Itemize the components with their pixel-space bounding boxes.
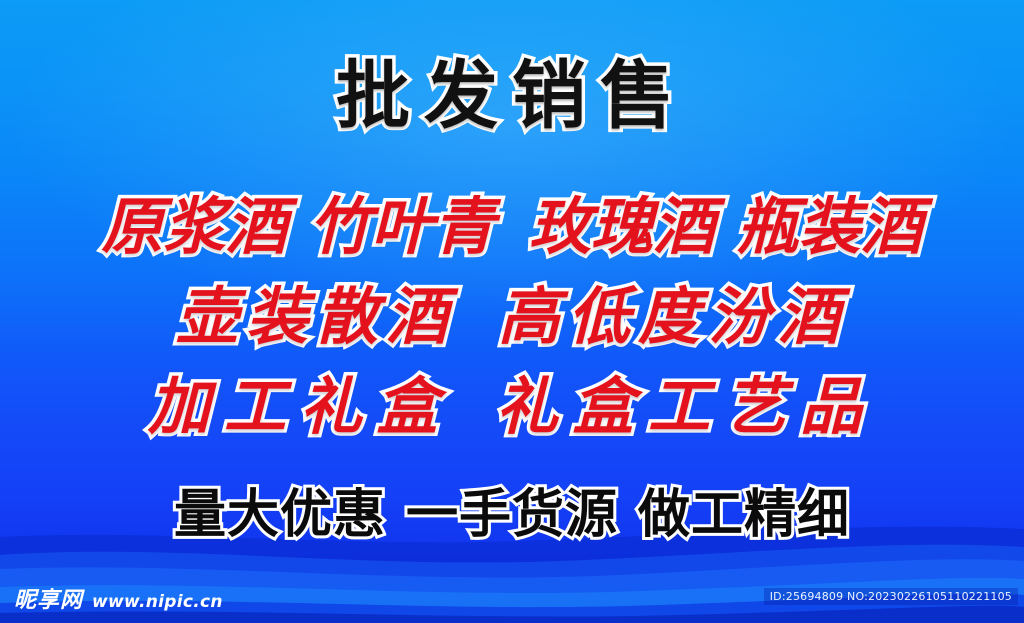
product-row: 加工礼盒 礼盒工艺品 bbox=[0, 362, 1024, 452]
nipic-logo: 昵享网 bbox=[14, 590, 83, 612]
product-row: 原浆酒 竹叶青 玫瑰酒 瓶装酒 bbox=[0, 182, 1024, 272]
image-id-badge: ID:25694809 NO:20230226105110221105 bbox=[764, 588, 1018, 605]
watermark-bar: 昵享网 www.nipic.cn ID:25694809 NO:20230226… bbox=[0, 579, 1024, 623]
tagline-part-1: 量大优惠 bbox=[174, 485, 386, 545]
watermark-brand[interactable]: 昵享网 www.nipic.cn bbox=[0, 590, 223, 612]
poster-title: 批发销售 bbox=[0, 54, 1024, 138]
tagline-part-3: 做工精细 bbox=[638, 485, 850, 545]
tagline-part-2: 一手货源 bbox=[406, 485, 618, 545]
product-group-right: 礼盒工艺品 bbox=[496, 371, 876, 443]
nipic-url[interactable]: www.nipic.cn bbox=[92, 592, 223, 612]
product-group-left: 壶装散酒 bbox=[176, 281, 456, 353]
product-group-right: 玫瑰酒 瓶装酒 bbox=[529, 191, 923, 263]
product-list: 原浆酒 竹叶青 玫瑰酒 瓶装酒 壶装散酒 高低度汾酒 加工礼盒 礼盒工艺品 bbox=[0, 182, 1024, 452]
product-group-right: 高低度汾酒 bbox=[498, 281, 848, 353]
product-group-left: 原浆酒 竹叶青 bbox=[101, 191, 495, 263]
product-row: 壶装散酒 高低度汾酒 bbox=[0, 272, 1024, 362]
product-group-left: 加工礼盒 bbox=[148, 371, 452, 443]
poster-canvas: 批发销售 原浆酒 竹叶青 玫瑰酒 瓶装酒 壶装散酒 高低度汾酒 加工礼盒 礼盒工… bbox=[0, 0, 1024, 623]
poster-tagline: 量大优惠一手货源做工精细 bbox=[0, 484, 1024, 546]
